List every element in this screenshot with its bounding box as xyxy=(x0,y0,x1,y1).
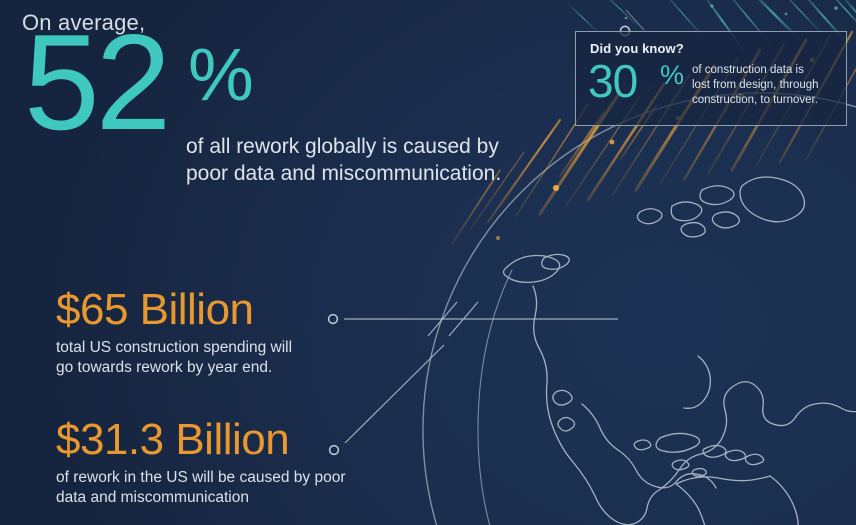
stat-desc-line-1: of rework in the US will be caused by po… xyxy=(56,468,386,488)
infographic-canvas: On average, 52 % of all rework globally … xyxy=(0,0,856,525)
headline-caption: of all rework globally is caused by poor… xyxy=(186,133,546,187)
headline-caption-line-2: poor data and miscommunication. xyxy=(186,160,546,187)
headline-block: On average, 52 % of all rework globally … xyxy=(16,2,536,150)
connector-tick-2 xyxy=(449,302,478,336)
stat-description-31-3-billion: of rework in the US will be caused by po… xyxy=(56,468,386,508)
stat-callout-31-3-billion: $31.3 Billion of rework in the US will b… xyxy=(56,416,386,508)
did-you-know-box: Did you know? 30 % of construction data … xyxy=(575,31,847,126)
connector-tick-1 xyxy=(428,302,457,336)
headline-percent-sign: % xyxy=(188,38,254,112)
stat-desc-line-2: go towards rework by year end. xyxy=(56,358,386,378)
stat-desc-line-1: total US construction spending will xyxy=(56,338,386,358)
did-you-know-caption-line-1: of construction data is xyxy=(692,63,842,78)
connector-dyk-stub xyxy=(626,10,644,30)
did-you-know-caption-line-3: construction, to turnover. xyxy=(692,93,842,108)
stat-desc-line-2: data and miscommunication xyxy=(56,488,386,508)
did-you-know-title: Did you know? xyxy=(590,41,684,56)
did-you-know-percent-sign: % xyxy=(660,62,684,89)
stat-value-65-billion: $65 Billion xyxy=(56,286,386,334)
stat-value-31-3-billion: $31.3 Billion xyxy=(56,416,386,464)
stat-callout-65-billion: $65 Billion total US construction spendi… xyxy=(56,286,386,378)
did-you-know-caption: of construction data is lost from design… xyxy=(692,63,842,108)
headline-stat-row: 52 % of all rework globally is caused by… xyxy=(16,30,536,150)
did-you-know-caption-line-2: lost from design, through xyxy=(692,78,842,93)
headline-caption-line-1: of all rework globally is caused by xyxy=(186,133,546,160)
stat-description-65-billion: total US construction spending will go t… xyxy=(56,338,386,378)
headline-big-number: 52 xyxy=(24,14,167,150)
did-you-know-number: 30 xyxy=(588,58,637,104)
